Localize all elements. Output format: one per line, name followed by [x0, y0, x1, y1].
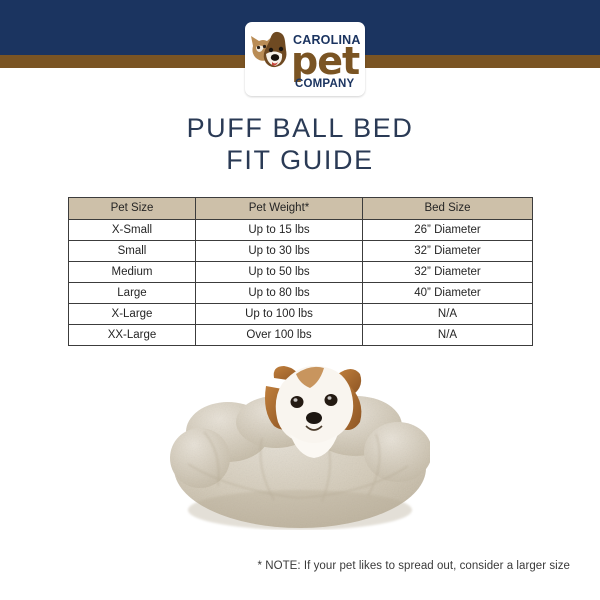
table-header-row: Pet Size Pet Weight* Bed Size: [69, 198, 533, 220]
table-row: XX-Large Over 100 lbs N/A: [69, 325, 533, 346]
cell-pet-weight: Up to 30 lbs: [196, 241, 363, 262]
cell-pet-weight: Up to 80 lbs: [196, 283, 363, 304]
cell-bed-size: 40” Diameter: [363, 283, 533, 304]
cell-pet-size: X-Large: [69, 304, 196, 325]
table-row: X-Large Up to 100 lbs N/A: [69, 304, 533, 325]
cell-pet-size: XX-Large: [69, 325, 196, 346]
fit-guide-page: CAROLINA pet COMPANY PUFF BALL BED FIT G…: [0, 0, 600, 600]
cell-pet-size: Small: [69, 241, 196, 262]
cell-pet-size: Medium: [69, 262, 196, 283]
table-row: Large Up to 80 lbs 40” Diameter: [69, 283, 533, 304]
cell-pet-weight: Up to 100 lbs: [196, 304, 363, 325]
cell-bed-size: 26” Diameter: [363, 220, 533, 241]
table-row: Small Up to 30 lbs 32” Diameter: [69, 241, 533, 262]
cell-pet-weight: Up to 15 lbs: [196, 220, 363, 241]
cell-pet-weight: Up to 50 lbs: [196, 262, 363, 283]
logo-text-pet: pet: [291, 42, 359, 80]
dog-cat-logo-icon: [250, 30, 294, 76]
brand-logo: CAROLINA pet COMPANY: [245, 22, 365, 96]
table-body: X-Small Up to 15 lbs 26” Diameter Small …: [69, 220, 533, 346]
product-photo-puff-ball-bed: [170, 360, 430, 530]
page-title: PUFF BALL BED FIT GUIDE: [0, 112, 600, 176]
page-title-line-2: FIT GUIDE: [0, 144, 600, 176]
cell-pet-size: X-Small: [69, 220, 196, 241]
cell-bed-size: 32” Diameter: [363, 241, 533, 262]
logo-text-company: COMPANY: [295, 79, 354, 91]
cell-bed-size: N/A: [363, 304, 533, 325]
cell-pet-size: Large: [69, 283, 196, 304]
footer-note: * NOTE: If your pet likes to spread out,…: [0, 560, 570, 572]
fit-guide-table: Pet Size Pet Weight* Bed Size X-Small Up…: [68, 197, 533, 346]
table-row: X-Small Up to 15 lbs 26” Diameter: [69, 220, 533, 241]
cell-bed-size: N/A: [363, 325, 533, 346]
cell-pet-weight: Over 100 lbs: [196, 325, 363, 346]
page-title-line-1: PUFF BALL BED: [0, 112, 600, 144]
table-row: Medium Up to 50 lbs 32” Diameter: [69, 262, 533, 283]
column-header-pet-weight: Pet Weight*: [196, 198, 363, 220]
column-header-bed-size: Bed Size: [363, 198, 533, 220]
cell-bed-size: 32” Diameter: [363, 262, 533, 283]
column-header-pet-size: Pet Size: [69, 198, 196, 220]
